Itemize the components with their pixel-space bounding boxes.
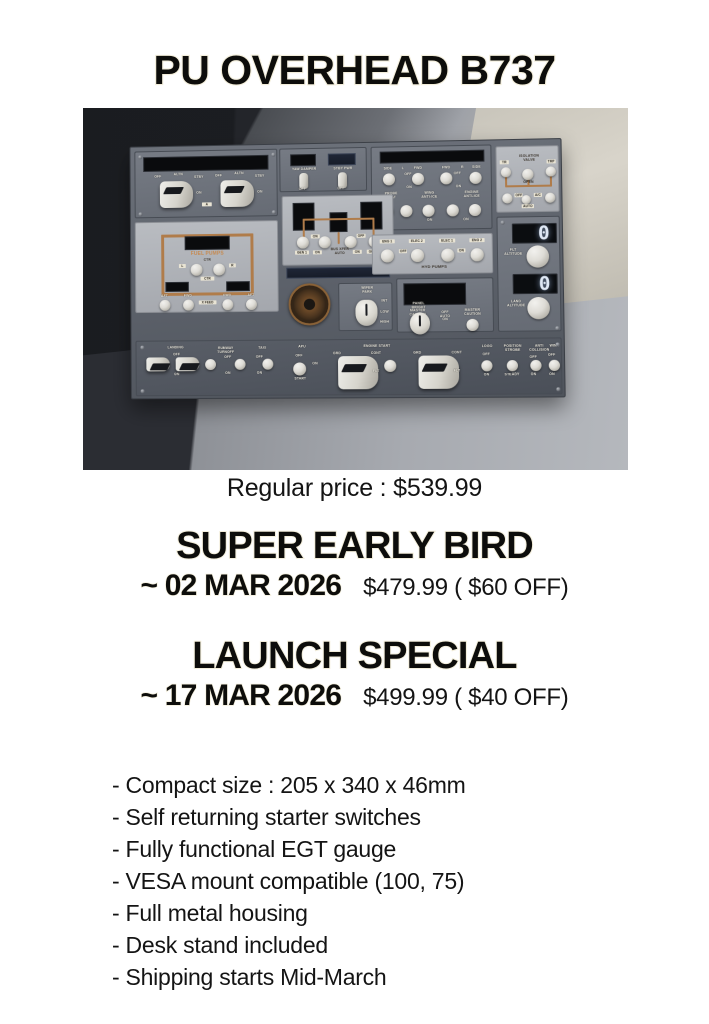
label-isolation-valve: ISOLATIONVALVE [515,154,544,162]
gen-knob-2[interactable] [319,236,331,248]
label-int: INT [377,300,391,304]
feature-item: - Desk stand included [112,930,466,962]
screw-dot [555,326,559,330]
screw-dot [139,212,143,216]
engine-anti-ice-knob-1[interactable] [447,204,459,216]
bleed-trip-cap-right[interactable]: TRP [546,159,555,164]
runway-turnoff-knob-right[interactable] [235,359,246,370]
overhead-panel-hardware: OFF ALTN STBY ON OFF ALTN STBY ON A [129,138,565,399]
hyd-knob-1[interactable] [381,249,394,262]
label-fwd-left: FWD [179,295,197,299]
screw-dot [556,387,560,391]
label-on-window2: ON [451,185,465,189]
screw-dot [556,342,560,346]
page-title: PU OVERHEAD B737 [0,47,709,94]
engine-start-center-knob[interactable] [384,360,396,372]
label-flt-2: FLT [451,369,463,373]
label-logo-off: OFF [479,353,493,357]
label-stby-b: STBY [251,175,269,179]
panel-bright-knob[interactable] [410,312,430,334]
flight-control-module: OFF ALTN STBY ON OFF ALTN STBY ON A [134,149,278,219]
gen-cap-off-right[interactable]: OFF [357,234,366,238]
gen-annunciator-center [329,212,347,232]
hydraulic-pumps-module: ENG 1 ELEC 2 ELEC 1 ENG 2 OFF ON HYD PUM… [372,233,494,275]
label-off-a: OFF [151,176,165,180]
label-fwd-right: FWD [218,294,236,298]
gen-annunciator-right [360,201,382,229]
label-standby-power: STBY PWR [326,167,360,171]
label-fwd-l: FWD [410,167,426,171]
probe-heat-knob-2[interactable] [400,205,412,217]
label-off-auto-on: OFFAUTOON [436,311,454,322]
label-taxi-on: ON [253,372,267,376]
fuel-pump-fwd-r[interactable] [222,299,233,310]
regular-price: Regular price : $539.99 [0,474,709,503]
wiper-module: WIPERPARK INT LOW HIGH [338,282,393,331]
offer-date-launch: ~ 17 MAR 2026 [141,679,342,713]
bleed-air-module: ISOLATIONVALVE OPEN TR TRP OFF A/C AUTO [495,145,559,213]
label-logo-on: ON [479,373,493,377]
label-open: OPEN [522,181,534,185]
label-wing-anti-ice: WINGANTI-ICE [414,191,444,199]
fuel-pump-annunciator [185,236,230,250]
label-wiper: WIPERPARK [353,287,381,295]
label-off-yaw: OFF [295,188,309,192]
fuel-pump-ctr-right[interactable] [213,264,225,276]
window-heat-knob-3[interactable] [440,172,452,184]
label-low: LOW [377,311,391,315]
label-wing-on: ON [545,373,559,377]
position-light-knob[interactable] [507,360,518,371]
flt-altitude-knob[interactable] [526,245,549,268]
fuel-pump-aft-l[interactable] [160,300,171,311]
screw-dot [138,155,142,159]
bus-tie-bar-mid [338,232,340,244]
flight-control-switch-a[interactable] [160,181,193,208]
bleed-knob-1[interactable] [501,167,511,177]
caution-cap-center[interactable]: A [202,202,212,206]
hyd-cap-eng2[interactable]: ENG 2 [469,238,484,243]
label-runway-turnoff: RUNWAYTURNOFF [211,347,241,355]
gen-knob-1[interactable] [297,237,309,249]
taxi-light-knob[interactable] [262,359,273,370]
label-side-r: SIDE [468,166,484,170]
label-on-window: ON [402,186,416,190]
label-on-a: ON [192,192,206,196]
offer-price-launch: $499.99 ( $40 OFF) [363,684,568,712]
label-fuel-pumps: FUEL PUMPS [185,252,230,258]
label-flt-altitude: FLTALTITUDE [500,249,527,257]
label-on-b: ON [253,190,267,194]
label-flt-1: FLT [370,370,382,374]
hyd-cap-elec1[interactable]: ELEC 1 [439,238,455,243]
label-ctr-top: CTR [197,259,219,263]
label-alt-a: ALTN [170,173,186,177]
fuel-pumps-module: FUEL PUMPS CTR L R CTR AFT FWD FWD AFT X… [135,220,279,313]
auto-cap[interactable]: AUTO [522,204,534,209]
label-steady: STEADY [500,373,525,377]
fuel-manifold-right [250,233,254,295]
label-apu-off: OFF [292,354,306,358]
label-aft-right: AFT [242,294,260,298]
feature-item: - Fully functional EGT gauge [112,834,466,866]
fuel-cap-left[interactable]: L [179,264,186,268]
label-engine-start: ENGINE START [356,345,398,349]
land-altitude-knob[interactable] [527,297,550,320]
bleed-knob-2[interactable] [546,166,556,176]
gen-cap-on-left[interactable]: ON [311,234,320,238]
standby-power-light [328,153,356,165]
screw-dot [501,221,505,225]
offer-launch-special: LAUNCH SPECIAL ~ 17 MAR 2026 $499.99 ( $… [0,637,709,713]
land-altitude-value: 0 [514,274,557,294]
label-apu-start: START [290,377,310,381]
flt-altitude-value: 0 [513,224,556,244]
feature-item: - Shipping starts Mid-March [112,962,466,994]
flt-altitude-display: 0 [512,223,557,244]
hyd-cap-elec2[interactable]: ELEC 2 [409,239,425,244]
label-aft-left: AFT [156,295,174,299]
bottom-control-strip: LANDING OFF ON RUNWAYTURNOFF OFF ON TAXI… [135,337,562,396]
fuel-pump-fwd-l[interactable] [183,300,194,311]
feature-item: - Compact size : 205 x 340 x 46mm [112,770,466,802]
fuel-pump-aft-r[interactable] [246,299,257,310]
label-high: HIGH [378,321,392,325]
label-rt-off: OFF [221,356,235,360]
window-heat-knob-2[interactable] [412,173,424,185]
gen-cap-gen1[interactable]: GEN 1 [295,250,309,255]
landing-light-lever-right[interactable] [176,357,200,371]
master-caution-knob-right[interactable] [466,319,478,331]
label-ac-off: OFF [526,356,540,360]
label-taxi: TAXI [254,347,270,351]
offer-super-early-bird: SUPER EARLY BIRD ~ 02 MAR 2026 $479.99 (… [0,527,709,603]
label-wing-off: OFF [544,354,558,358]
runway-turnoff-knob-left[interactable] [205,359,216,370]
label-wing-light: WING [546,344,562,348]
hyd-cap-eng1[interactable]: ENG 1 [380,239,395,244]
egt-gauge [288,283,330,325]
label-engine-anti-ice: ENGINEANTI-ICE [455,191,490,199]
hyd-knob-4[interactable] [470,248,483,261]
label-rt-on: ON [221,372,235,376]
screw-dot [140,346,144,350]
window-heat-knob-1[interactable] [383,173,395,185]
gen-cap-on2[interactable]: ON [313,250,322,254]
feature-list: - Compact size : 205 x 340 x 46mm- Self … [112,770,466,994]
anti-ice-annunciators [380,150,485,164]
product-image: OFF ALTN STBY ON OFF ALTN STBY ON A [83,108,628,470]
apu-start-knob[interactable] [293,362,306,375]
isolation-valve-knob[interactable] [522,169,533,180]
window-heat-knob-4[interactable] [469,172,481,184]
fuel-left-light [165,282,189,292]
wiper-selector-dial[interactable] [355,300,377,326]
anti-collision-knob[interactable] [530,360,541,371]
offer-title-launch: LAUNCH SPECIAL [0,637,709,677]
engine-anti-ice-knob-2[interactable] [469,204,481,216]
label-cont-2: CONT [449,351,465,355]
label-stby-a: STBY [190,176,208,180]
hyd-knob-3[interactable] [441,249,454,262]
label-l: L [399,167,407,171]
label-off-b: OFF [212,174,226,178]
bleed-trip-cap-left[interactable]: TR [500,160,509,165]
fuel-cross-cap[interactable]: X FEED [199,300,217,305]
label-on-wing: ON [425,219,435,223]
screw-dot [141,389,145,393]
offer-row-early: ~ 02 MAR 2026 $479.99 ( $60 OFF) [0,569,709,603]
wing-light-knob[interactable] [549,360,560,371]
label-apu-on: ON [308,362,322,366]
fuel-cap-ctr[interactable]: CTR [201,277,215,281]
logo-light-knob[interactable] [481,360,492,371]
screw-dot [271,153,275,157]
label-side-l: SIDE [380,167,396,171]
label-on-engine: ON [461,218,471,222]
pack-knob-mid[interactable] [522,195,531,204]
fuel-manifold-bottom [162,292,254,296]
flight-control-switch-b[interactable] [220,180,254,207]
feature-item: - Full metal housing [112,898,466,930]
pack-cap-left[interactable]: OFF [514,193,522,198]
label-apu: APU [294,345,310,349]
label-panel-bright: PANELBRIGHT [403,302,435,310]
label-hyd-pumps: HYD PUMPS [413,265,455,270]
offer-date-early: ~ 02 MAR 2026 [141,569,342,603]
label-landing: LANDING [160,346,191,350]
offer-price-early: $479.99 ( $60 OFF) [363,574,568,602]
landing-light-lever-left[interactable] [146,357,170,371]
offer-title-early: SUPER EARLY BIRD [0,527,709,567]
land-altitude-display: 0 [513,273,558,294]
yaw-damper-module: YAW DAMPER STBY PWR OFF OFF [279,147,367,192]
yaw-damper-light [290,154,316,166]
label-bus-transfer: BUS XFERAUTO [325,248,355,256]
label-fwd-r: FWD [438,166,454,170]
wing-anti-ice-knob[interactable] [422,205,434,217]
fuel-cap-right[interactable]: R [229,263,236,267]
label-off-window2: OFF [450,172,464,176]
fuel-right-light [226,281,250,291]
annunciator-block [143,155,268,172]
hyd-knob-2[interactable] [411,249,424,262]
pack-knob-right[interactable] [545,193,555,203]
cabin-pressure-module: 0 FLTALTITUDE 0 LANDALTITUDE [496,216,561,332]
promo-page: PU OVERHEAD B737 OFF ALTN STBY ON OFF AL… [0,0,709,1024]
label-alt-b: ALTN [231,172,247,176]
label-ac-on: ON [526,373,540,377]
pack-knob-left[interactable] [502,193,512,203]
fuel-manifold-left [161,235,164,296]
label-master-caution-right: MASTERCAUTION [460,309,484,317]
label-position: POSITIONSTROBE [499,345,526,353]
hyd-cap-on[interactable]: ON [457,248,465,252]
screw-dot [272,210,276,214]
feature-item: - VESA mount compatible (100, 75) [112,866,466,898]
label-cont-1: CONT [368,352,384,356]
label-retract-on: ON [166,373,188,377]
feature-item: - Self returning starter switches [112,802,466,834]
label-logo: LOGO [479,345,495,349]
pack-cap-right[interactable]: A/C [534,193,542,198]
label-off-stby: OFF [334,187,348,191]
fuel-pump-ctr-left[interactable] [191,264,203,276]
label-r: R [458,166,466,170]
offer-row-launch: ~ 17 MAR 2026 $499.99 ( $40 OFF) [0,679,709,713]
hyd-cap-off[interactable]: OFF [399,249,407,253]
label-yaw-damper: YAW DAMPER [285,168,323,172]
